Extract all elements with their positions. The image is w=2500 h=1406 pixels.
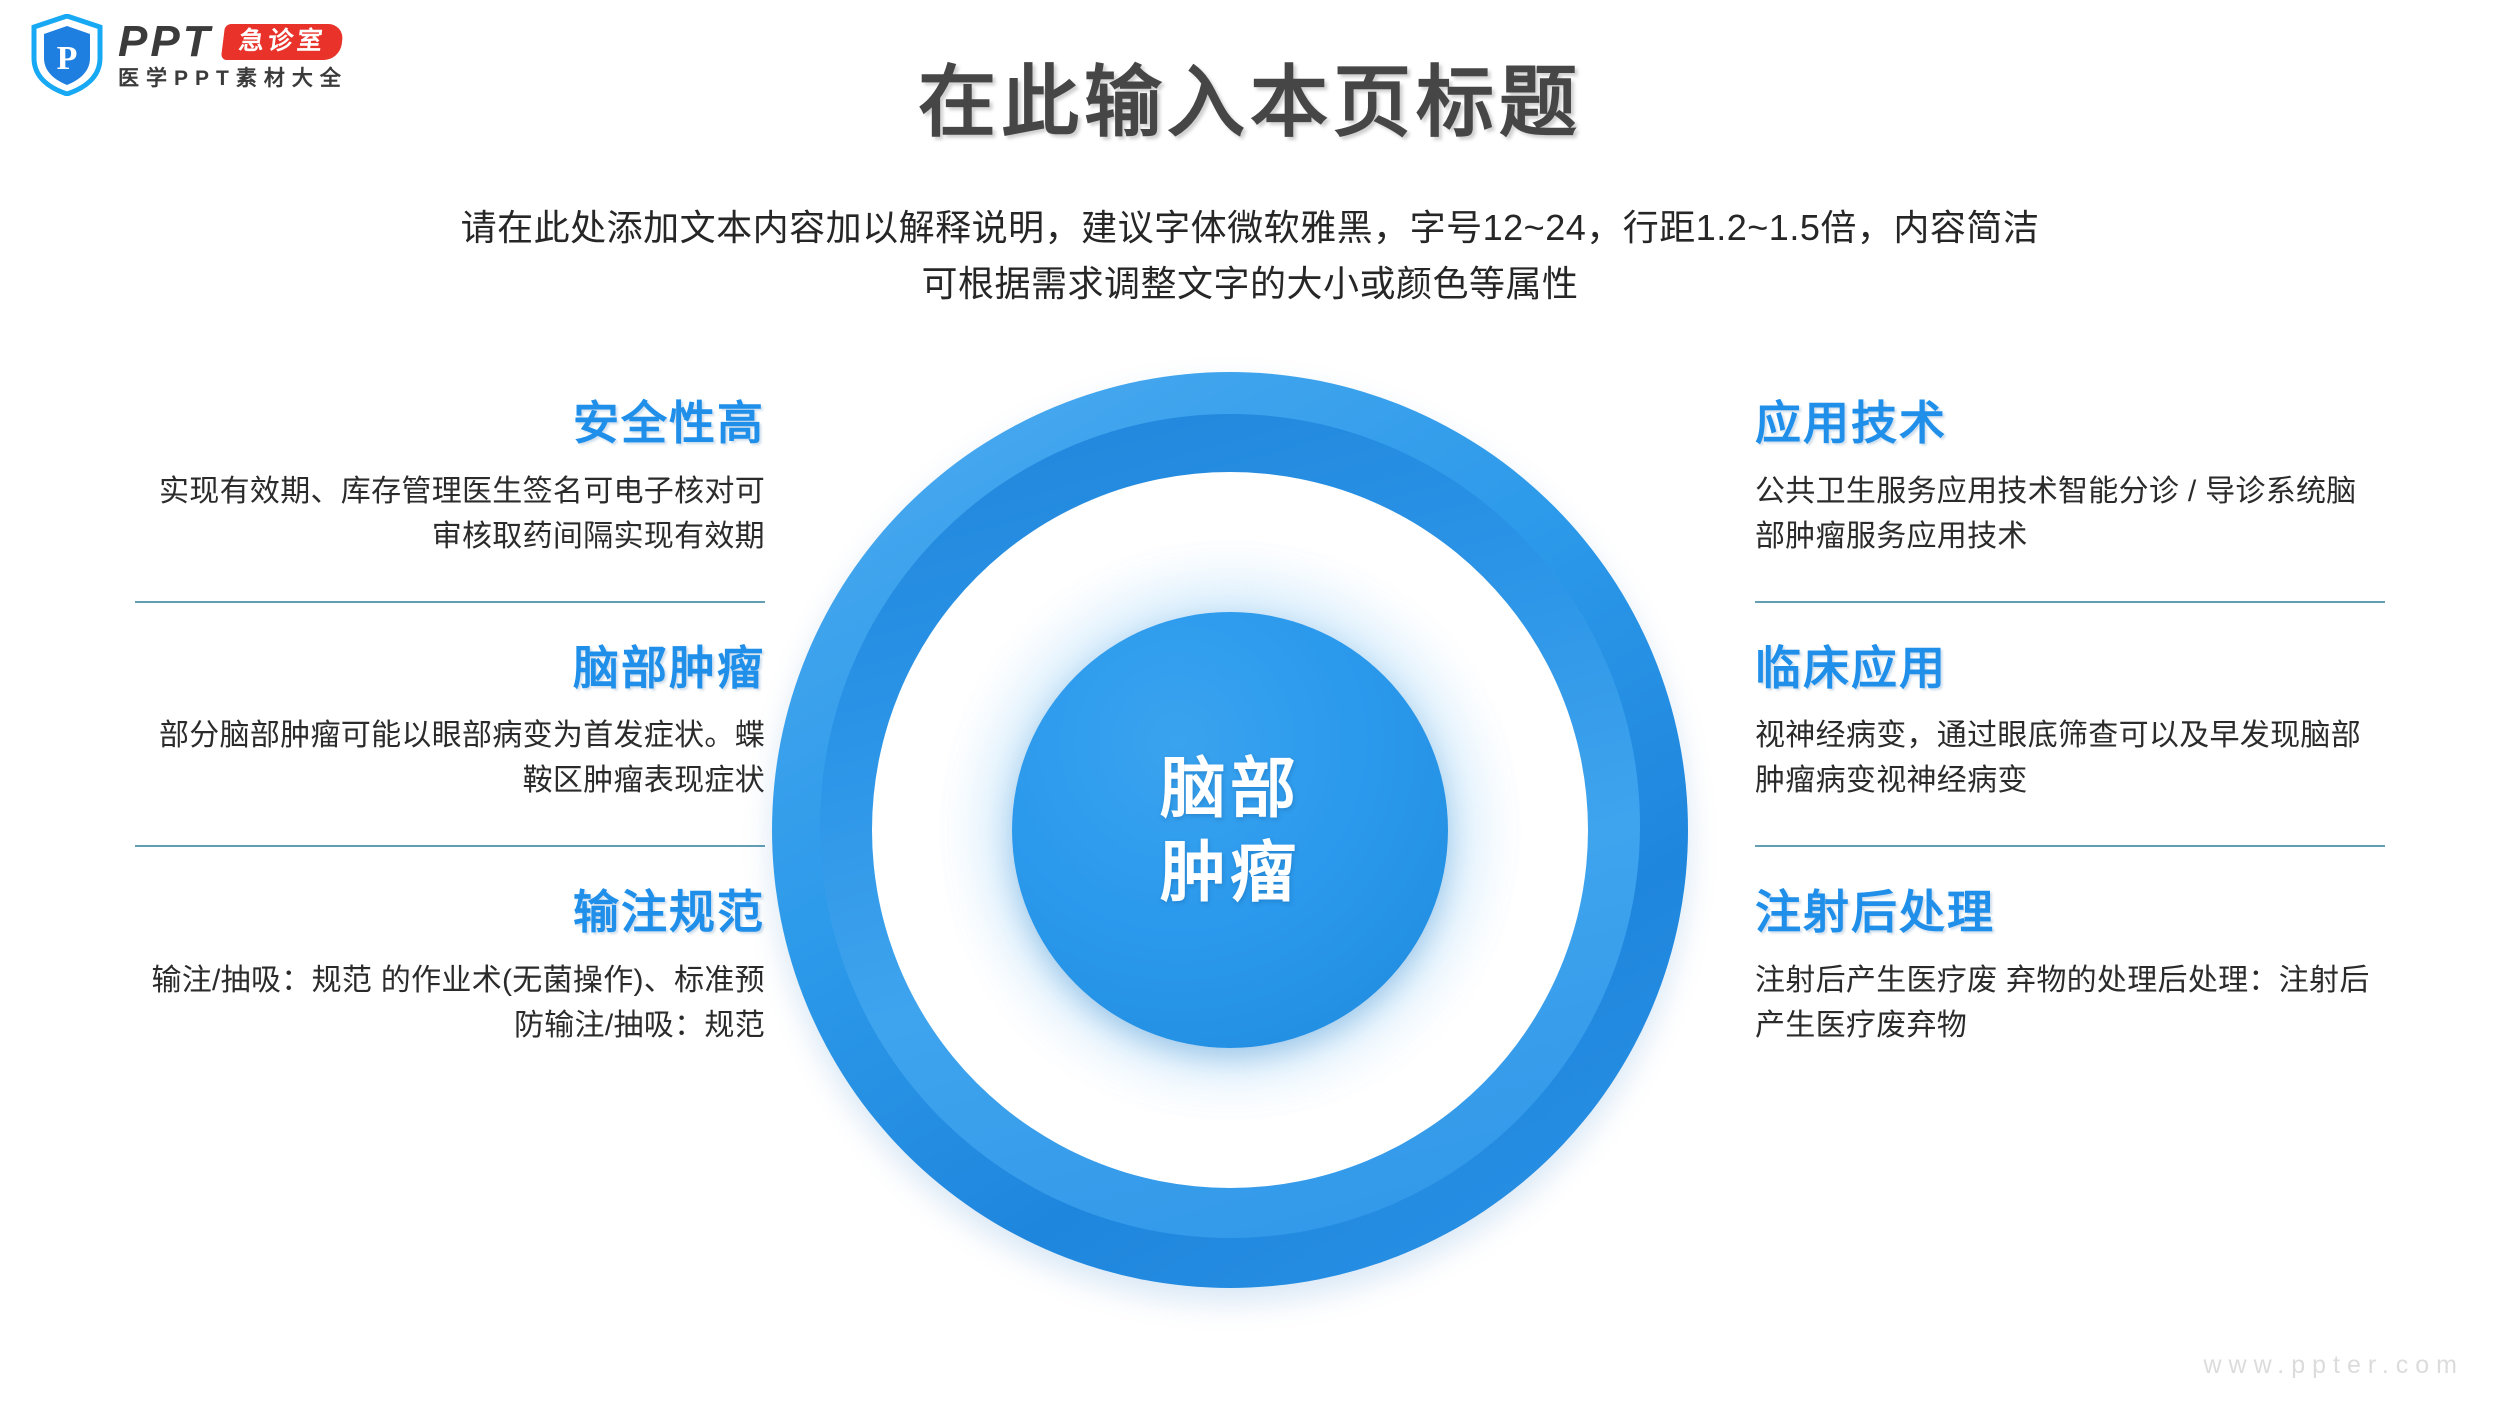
divider: [135, 601, 765, 603]
list-item[interactable]: 安全性高 实现有效期、库存管理医生签名可电子核对可审核取药间隔实现有效期: [135, 398, 765, 559]
page-subtitle-line-2: 可根据需求调整文字的大小或颜色等属性: [0, 256, 2500, 312]
item-description: 输注/抽吸：规范 的作业术(无菌操作)、标准预防输注/抽吸：规范: [135, 958, 765, 1048]
item-title: 安全性高: [135, 398, 765, 449]
item-description: 部分脑部肿瘤可能以眼部病变为首发症状。蝶鞍区肿瘤表现症状: [135, 713, 765, 803]
item-title: 脑部肿瘤: [135, 643, 765, 694]
page-subtitle: 请在此处添加文本内容加以解释说明，建议字体微软雅黑，字号12~24，行距1.2~…: [0, 200, 2500, 312]
item-description: 公共卫生服务应用技术智能分诊 / 导诊系统脑部肿瘤服务应用技术: [1755, 469, 2385, 559]
list-item[interactable]: 临床应用 视神经病变，通过眼底筛查可以及早发现脑部肿瘤病变视神经病变: [1755, 643, 2385, 804]
divider: [1755, 601, 2385, 603]
item-title: 临床应用: [1755, 643, 2385, 694]
item-description: 视神经病变，通过眼底筛查可以及早发现脑部肿瘤病变视神经病变: [1755, 713, 2385, 803]
list-item[interactable]: 脑部肿瘤 部分脑部肿瘤可能以眼部病变为首发症状。蝶鞍区肿瘤表现症状: [135, 643, 765, 804]
footer-watermark: www.ppter.com: [2203, 1351, 2464, 1380]
center-label-line-1: 脑部: [1160, 746, 1300, 830]
item-title: 注射后处理: [1755, 887, 2385, 938]
item-description: 注射后产生医疗废 弃物的处理后处理：注射后产生医疗废弃物: [1755, 958, 2385, 1048]
item-title: 应用技术: [1755, 398, 2385, 449]
divider: [135, 845, 765, 847]
left-column: 安全性高 实现有效期、库存管理医生签名可电子核对可审核取药间隔实现有效期 脑部肿…: [135, 398, 765, 1048]
center-label-line-2: 肿瘤: [1160, 830, 1300, 914]
right-column: 应用技术 公共卫生服务应用技术智能分诊 / 导诊系统脑部肿瘤服务应用技术 临床应…: [1755, 398, 2385, 1048]
page-title: 在此输入本页标题: [0, 40, 2500, 152]
center-circle-graphic: 脑部 肿瘤: [772, 372, 1688, 1288]
page-subtitle-line-1: 请在此处添加文本内容加以解释说明，建议字体微软雅黑，字号12~24，行距1.2~…: [0, 200, 2500, 256]
item-description: 实现有效期、库存管理医生签名可电子核对可审核取药间隔实现有效期: [135, 469, 765, 559]
list-item[interactable]: 输注规范 输注/抽吸：规范 的作业术(无菌操作)、标准预防输注/抽吸：规范: [135, 887, 765, 1048]
list-item[interactable]: 注射后处理 注射后产生医疗废 弃物的处理后处理：注射后产生医疗废弃物: [1755, 887, 2385, 1048]
divider: [1755, 845, 2385, 847]
item-title: 输注规范: [135, 887, 765, 938]
center-core-circle[interactable]: 脑部 肿瘤: [1012, 612, 1448, 1048]
list-item[interactable]: 应用技术 公共卫生服务应用技术智能分诊 / 导诊系统脑部肿瘤服务应用技术: [1755, 398, 2385, 559]
